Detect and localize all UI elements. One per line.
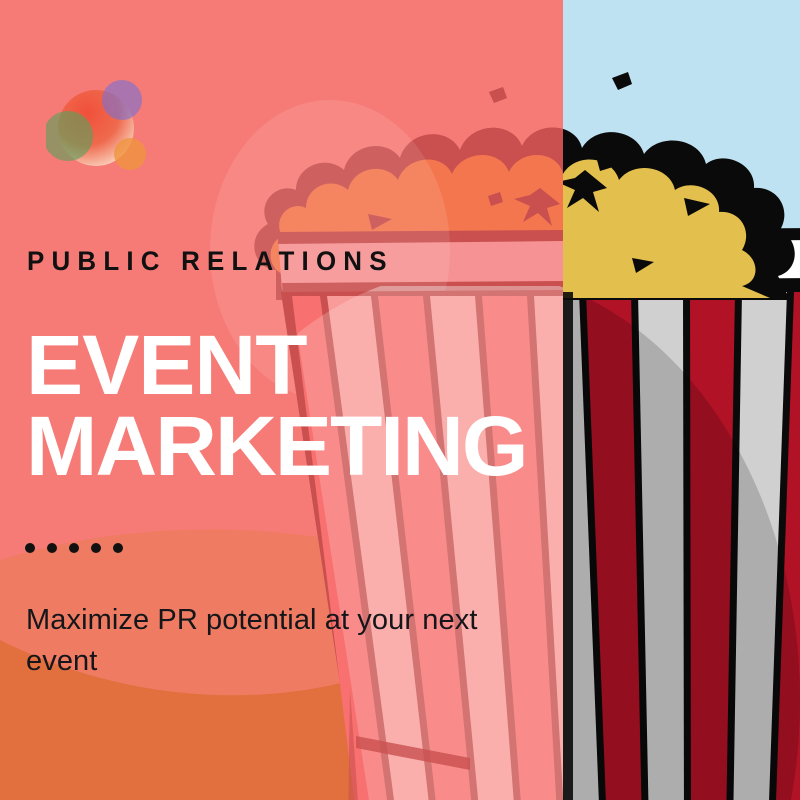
- divider-dot: [91, 543, 101, 553]
- poster-canvas: PUBLIC RELATIONS EVENT MARKETING Maximiz…: [0, 0, 800, 800]
- headline-line-2: MARKETING: [26, 406, 526, 487]
- logo-purple-circle: [102, 80, 142, 120]
- divider-dot: [113, 543, 123, 553]
- headline: EVENT MARKETING: [26, 325, 517, 488]
- divider-dot: [25, 543, 35, 553]
- divider-dot: [69, 543, 79, 553]
- dot-divider: [25, 543, 123, 553]
- logo-orange-circle: [114, 138, 146, 170]
- kicker-text: PUBLIC RELATIONS: [27, 246, 394, 277]
- bubble-cluster-logo: [46, 74, 148, 176]
- right-cup-left-edge: [563, 292, 573, 800]
- headline-line-1: EVENT: [26, 325, 526, 406]
- subtitle-text: Maximize PR potential at your next event: [26, 600, 496, 682]
- divider-dot: [47, 543, 57, 553]
